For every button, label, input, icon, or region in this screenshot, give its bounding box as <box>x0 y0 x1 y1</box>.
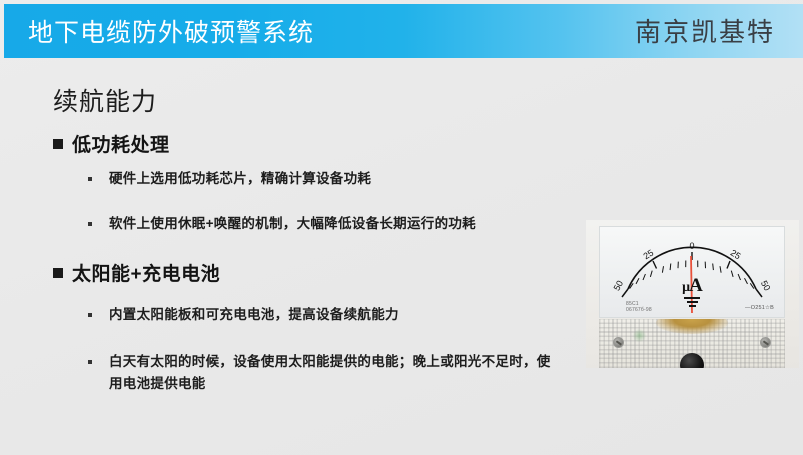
dot-bullet-icon <box>88 222 92 226</box>
svg-text:50: 50 <box>759 279 773 293</box>
bullet-level1-label: 太阳能+充电电池 <box>72 259 220 286</box>
list-item: 白天有太阳的时候，设备使用太阳能提供的电能；晚上或阳光不足时，使用电池提供电能 <box>88 351 558 395</box>
slide: 地下电缆防外破预警系统 南京凯基特 续航能力 低功耗处理 硬件上选用低功耗芯片，… <box>0 0 803 455</box>
screw-icon <box>613 337 624 348</box>
meter-green-tint <box>633 329 646 342</box>
meter-certification-label: —О251☆В <box>745 305 774 311</box>
list-item-label: 内置太阳能板和可充电电池，提高设备续航能力 <box>109 304 399 326</box>
header-title: 地下电缆防外破预警系统 <box>28 13 314 49</box>
list-item-label: 硬件上选用低功耗芯片，精确计算设备功耗 <box>109 168 371 190</box>
meter-unit-label: μA <box>682 275 702 297</box>
dot-bullet-icon <box>88 313 92 317</box>
svg-text:0: 0 <box>689 241 694 251</box>
page-title: 续航能力 <box>53 82 157 118</box>
slide-header: 地下电缆防外破预警系统 南京凯基特 <box>4 4 803 58</box>
bullet-level1-label: 低功耗处理 <box>72 130 170 157</box>
slide-content: 续航能力 低功耗处理 硬件上选用低功耗芯片，精确计算设备功耗 软件上使用休眠+唤… <box>0 58 803 455</box>
analog-meter-image: 50 25 0 25 50 μA 85C106767б-98 —О251☆В <box>586 220 799 368</box>
meter-coil <box>656 319 728 334</box>
bullet-level1-solar-battery: 太阳能+充电电池 <box>53 259 220 286</box>
dot-bullet-icon <box>88 177 92 181</box>
svg-text:50: 50 <box>612 279 626 293</box>
list-item: 硬件上选用低功耗芯片，精确计算设备功耗 <box>88 168 371 190</box>
meter-housing <box>599 319 785 368</box>
meter-model-label: 85C106767б-98 <box>626 301 652 313</box>
list-item: 内置太阳能板和可充电电池，提高设备续航能力 <box>88 304 399 326</box>
bullet-level1-low-power: 低功耗处理 <box>53 130 170 157</box>
square-bullet-icon <box>53 139 63 149</box>
list-item: 软件上使用休眠+唤醒的机制，大幅降低设备长期运行的功耗 <box>88 213 476 235</box>
list-item-label: 白天有太阳的时候，设备使用太阳能提供的电能；晚上或阳光不足时，使用电池提供电能 <box>109 351 558 395</box>
list-item-label: 软件上使用休眠+唤醒的机制，大幅降低设备长期运行的功耗 <box>109 213 476 235</box>
meter-face: 50 25 0 25 50 μA 85C106767б-98 —О251☆В <box>599 226 785 318</box>
header-brand: 南京凯基特 <box>635 12 775 49</box>
square-bullet-icon <box>53 268 63 278</box>
dc-symbol-icon <box>684 297 700 309</box>
screw-icon <box>760 337 771 348</box>
dot-bullet-icon <box>88 360 92 364</box>
meter-knob <box>680 353 704 368</box>
